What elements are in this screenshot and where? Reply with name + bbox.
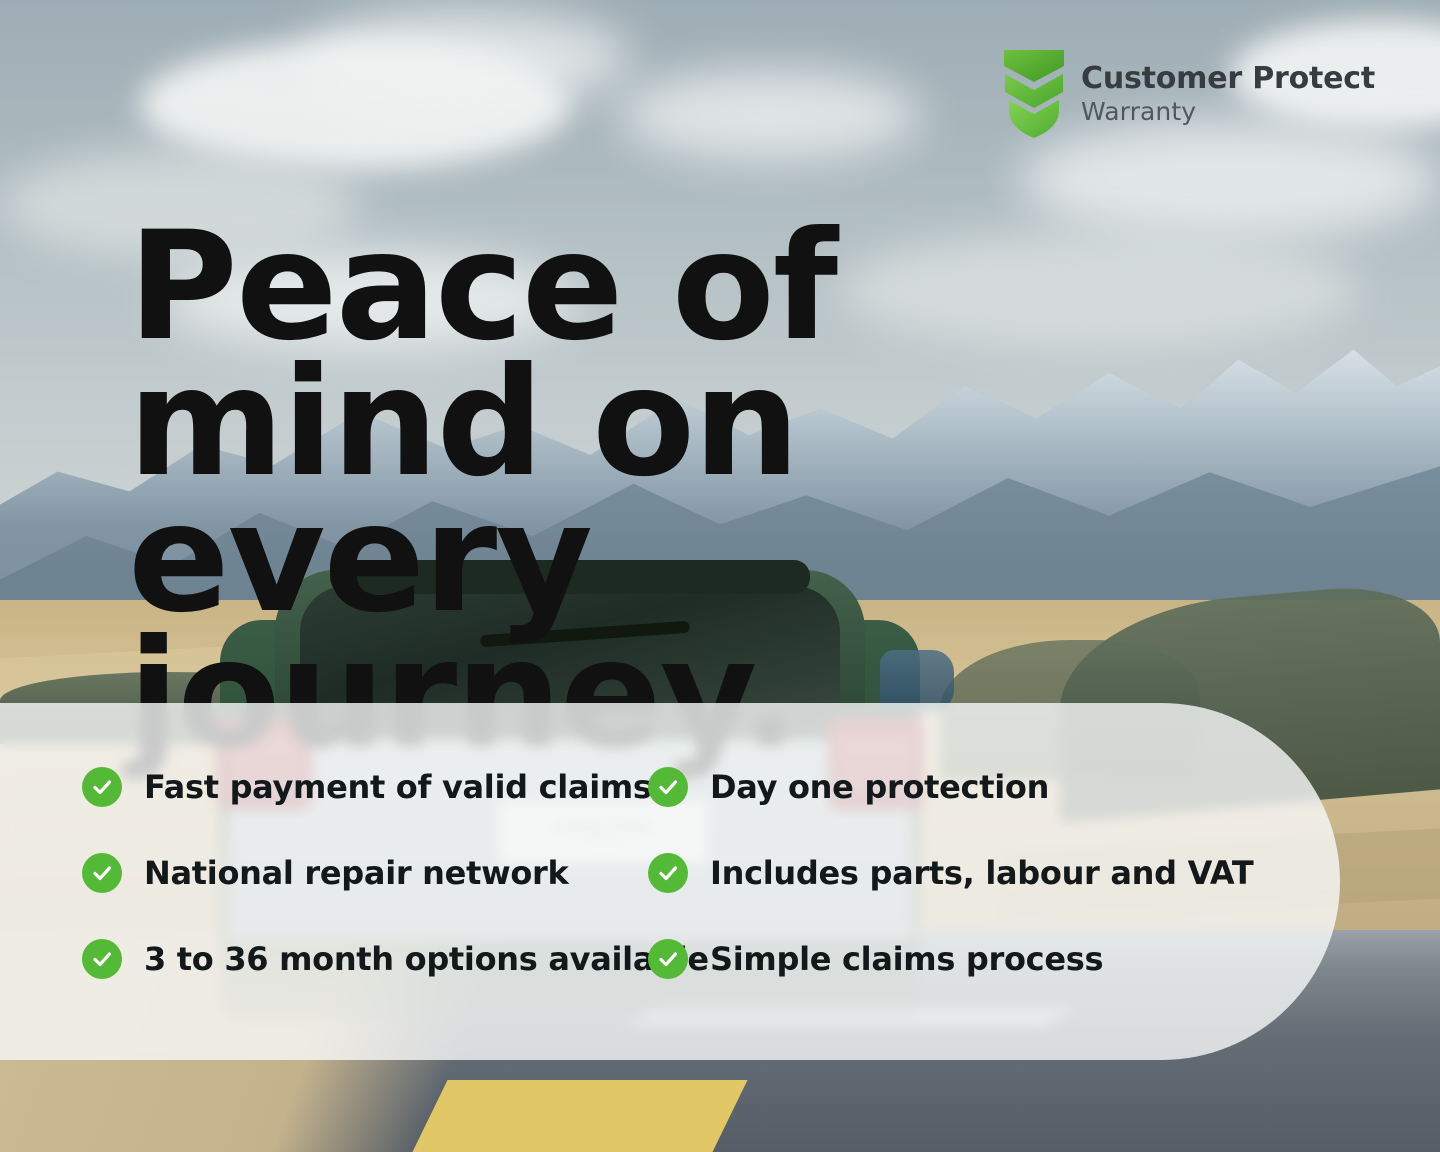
feature-item: Simple claims process [648, 939, 1260, 979]
cloud [620, 70, 920, 160]
feature-label: 3 to 36 month options available [144, 940, 709, 978]
check-circle-icon [82, 939, 122, 979]
promo-banner: Customer Protect Warranty Peace of mind … [0, 0, 1440, 1152]
feature-item: Includes parts, labour and VAT [648, 853, 1260, 893]
feature-label: Fast payment of valid claims [144, 768, 652, 806]
check-circle-icon [82, 853, 122, 893]
road-center-line [412, 1080, 747, 1152]
check-circle-icon [648, 939, 688, 979]
feature-label: Simple claims process [710, 940, 1103, 978]
brand-subtitle: Warranty [1081, 99, 1375, 125]
feature-label: Day one protection [710, 768, 1049, 806]
feature-label: Includes parts, labour and VAT [710, 854, 1253, 892]
hero-headline: Peace of mind on every journey. [128, 219, 1308, 763]
feature-item: Day one protection [648, 767, 1260, 807]
brand-logo-text: Customer Protect Warranty [1081, 63, 1375, 125]
check-circle-icon [648, 853, 688, 893]
features-column-right: Day one protection Includes parts, labou… [640, 767, 1260, 979]
brand-title: Customer Protect [1081, 63, 1375, 95]
features-column-left: Fast payment of valid claims National re… [0, 767, 640, 979]
check-circle-icon [648, 767, 688, 807]
feature-label: National repair network [144, 854, 568, 892]
cloud [300, 10, 630, 106]
features-panel: Fast payment of valid claims National re… [0, 703, 1340, 1060]
shield-chevron-icon [1003, 48, 1065, 140]
brand-logo: Customer Protect Warranty [1003, 48, 1375, 140]
check-circle-icon [82, 767, 122, 807]
feature-item: 3 to 36 month options available [82, 939, 640, 979]
feature-item: Fast payment of valid claims [82, 767, 640, 807]
feature-item: National repair network [82, 853, 640, 893]
